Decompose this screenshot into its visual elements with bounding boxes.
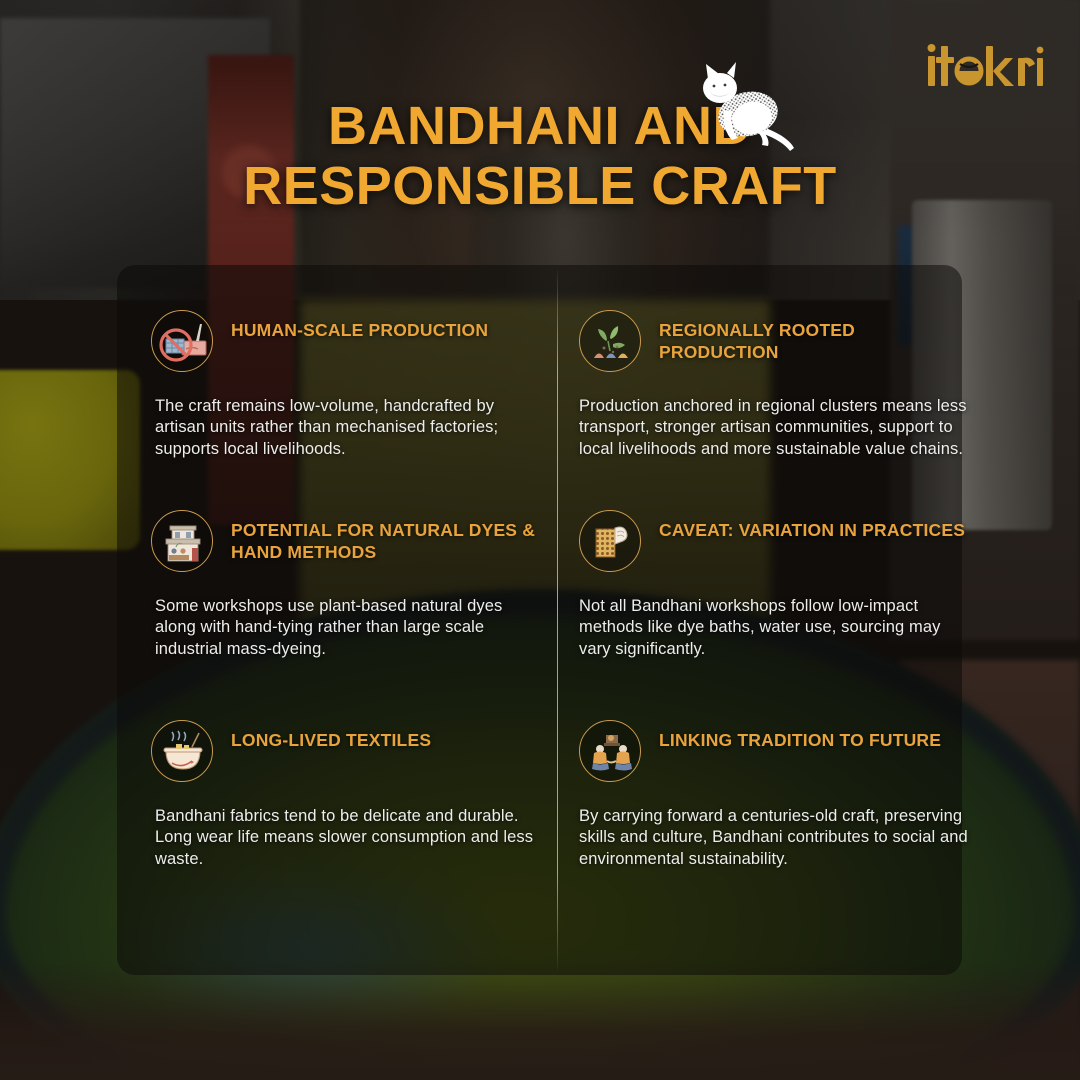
card-title: REGIONALLY ROOTED PRODUCTION (659, 310, 979, 364)
card-regionally-rooted-production: REGIONALLY ROOTED PRODUCTION Production … (579, 310, 979, 460)
no-factory-icon (151, 310, 213, 372)
card-title: POTENTIAL FOR NATURAL DYES & HAND METHOD… (231, 510, 551, 564)
cat-illustration-icon (686, 52, 802, 162)
card-body: By carrying forward a centuries-old craf… (579, 806, 971, 870)
card-header: LONG-LIVED TEXTILES (151, 720, 551, 782)
card-header: POTENTIAL FOR NATURAL DYES & HAND METHOD… (151, 510, 551, 572)
brand-logo[interactable] (924, 38, 1044, 94)
card-title: CAVEAT: VARIATION IN PRACTICES (659, 510, 965, 541)
page-title: BANDHANI AND RESPONSIBLE CRAFT (0, 96, 1080, 217)
card-header: REGIONALLY ROOTED PRODUCTION (579, 310, 979, 372)
card-header: HUMAN-SCALE PRODUCTION (151, 310, 551, 372)
card-human-scale-production: HUMAN-SCALE PRODUCTION The craft remains… (151, 310, 551, 460)
two-artisans-icon (579, 720, 641, 782)
card-body: Not all Bandhani workshops follow low-im… (579, 596, 971, 660)
card-long-lived-textiles: LONG-LIVED TEXTILES Bandhani fabrics ten… (151, 720, 551, 870)
card-caveat-variation-in-practices: CAVEAT: VARIATION IN PRACTICES Not all B… (579, 510, 979, 660)
card-linking-tradition-to-future: LINKING TRADITION TO FUTURE By carrying … (579, 720, 979, 870)
card-body: Production anchored in regional clusters… (579, 396, 971, 460)
card-header: CAVEAT: VARIATION IN PRACTICES (579, 510, 979, 572)
card-body: Some workshops use plant-based natural d… (155, 596, 547, 660)
card-natural-dyes-hand-methods: POTENTIAL FOR NATURAL DYES & HAND METHOD… (151, 510, 551, 660)
title-line-2: RESPONSIBLE CRAFT (0, 156, 1080, 216)
card-title: LINKING TRADITION TO FUTURE (659, 720, 941, 751)
workshop-building-icon (151, 510, 213, 572)
steaming-dye-pot-icon (151, 720, 213, 782)
card-title: LONG-LIVED TEXTILES (231, 720, 431, 751)
seedling-dye-pigments-icon (579, 310, 641, 372)
cards-grid: HUMAN-SCALE PRODUCTION The craft remains… (117, 265, 962, 975)
card-body: The craft remains low-volume, handcrafte… (155, 396, 547, 460)
card-body: Bandhani fabrics tend to be delicate and… (155, 806, 547, 870)
card-header: LINKING TRADITION TO FUTURE (579, 720, 979, 782)
card-title: HUMAN-SCALE PRODUCTION (231, 310, 488, 341)
hand-holding-bandhani-fabric-icon (579, 510, 641, 572)
